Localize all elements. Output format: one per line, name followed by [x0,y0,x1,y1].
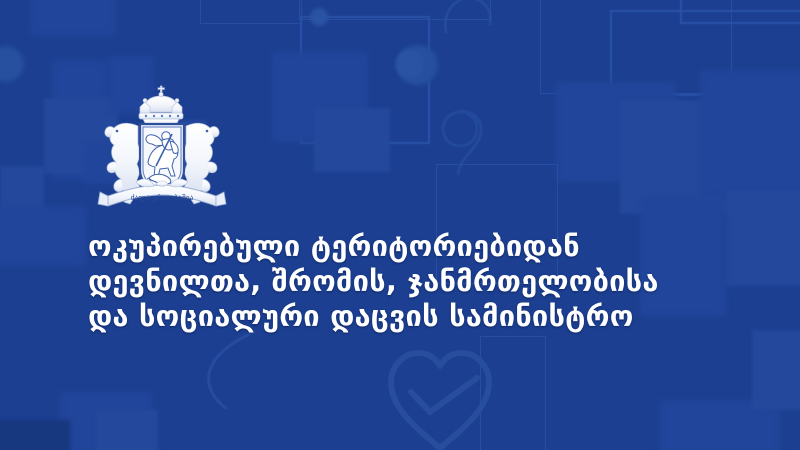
ring-outline-icon [440,0,495,37]
bg-block [0,166,44,230]
bg-block [0,420,70,450]
bg-block [30,0,116,36]
bg-block [60,392,152,450]
bg-outline [200,0,302,24]
bg-outline [480,336,546,450]
bg-circle [396,48,430,82]
bg-block [96,410,158,450]
title-line-1: ოკუპირებული ტერიტორიებიდან [88,229,748,264]
motto-text: ძალა ერთობაშია [131,193,194,202]
curve-line-icon [196,330,266,410]
ministry-title: ოკუპირებული ტერიტორიებიდან დევნილთა, შრო… [88,229,748,334]
title-line-2: დევნილთა, შრომის, ჯანმრთელობისა [88,264,748,299]
title-line-3: და სოციალური დაცვის სამინისტრო [88,299,748,334]
bg-circle [310,8,328,26]
bg-circle [0,46,24,82]
crown-icon [139,86,183,125]
bg-circle [398,45,438,85]
bg-block [556,82,676,182]
bg-circle [396,50,424,78]
bg-block [752,330,800,410]
background-decoration [0,0,800,450]
ministry-banner: ძალა ერთობაშია ოკუპირებული ტერიტორიებიდა… [0,0,800,450]
ring-outline-icon [430,105,490,180]
bg-block [0,206,86,266]
coat-of-arms-icon: ძალა ერთობაშია [96,84,228,220]
bg-outline [300,16,430,144]
bg-outline [299,0,491,20]
bg-block [620,100,730,214]
bg-block [314,108,390,172]
bg-outline [540,0,732,94]
bg-block [272,52,368,142]
bg-block [660,400,780,450]
bg-outline [610,10,800,96]
heart-check-icon [385,348,495,450]
bg-block [700,70,800,198]
bg-outline [680,0,800,24]
